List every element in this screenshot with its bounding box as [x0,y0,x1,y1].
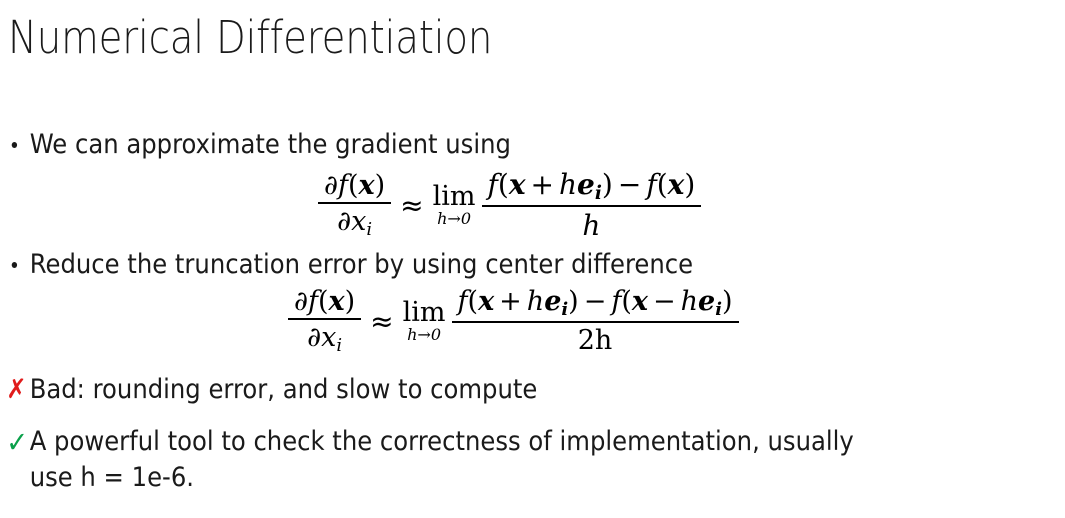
equation-2-rhs: f(x+hei)−f(x−hei) 2h [452,286,739,356]
slide-body: We can approximate the gradient using ∂f… [0,128,1065,496]
equation-1-lhs-denominator: ∂xi [331,204,378,240]
equation-1-rhs: f(x+hei)−f(x) h [482,168,702,242]
equation-2-limit-operator: lim [403,299,446,326]
equation-2-rhs-numerator: f(x+hei)−f(x−hei) [452,286,739,323]
bullet-item-1: We can approximate the gradient using [0,128,959,162]
equation-2-lhs-denominator: ∂xi [301,320,348,356]
note-bad: ✗ Bad: rounding error, and slow to compu… [0,372,1065,408]
bullet-text-2: Reduce the truncation error by using cen… [30,249,693,280]
equation-2-limit: lim h→0 [403,299,452,343]
equation-1-limit: lim h→0 [433,183,482,227]
page-title: Numerical Differentiation [8,10,492,66]
cross-icon: ✗ [6,372,26,408]
equation-1-rhs-denominator: h [576,207,606,242]
bullet-item-2: Reduce the truncation error by using cen… [0,248,959,282]
equation-center-difference: ∂f(x) ∂xi ≈ lim h→0 f(x+hei)−f(x−hei) 2h [0,286,1065,356]
equation-2-relation: ≈ [361,305,402,338]
equation-2-lhs: ∂f(x) ∂xi [288,286,361,356]
equation-1-limit-subscript: h→0 [437,211,471,227]
equation-2-rhs-denominator: 2h [572,323,619,356]
bullet-dot-icon [12,142,17,148]
equation-1-lhs: ∂f(x) ∂xi [318,170,391,240]
equation-1-limit-operator: lim [433,183,476,210]
partial-symbol: ∂ [324,170,338,201]
slide-canvas: Numerical Differentiation We can approxi… [0,0,1065,518]
equation-1-lhs-numerator: ∂f(x) [318,170,391,204]
bullet-dot-icon [12,262,17,268]
bullet-text-1: We can approximate the gradient using [30,129,511,160]
equation-2-lhs-numerator: ∂f(x) [288,286,361,320]
note-good: ✓ A powerful tool to check the correctne… [0,424,1065,496]
equation-1-relation: ≈ [391,189,432,222]
equation-1-rhs-numerator: f(x+hei)−f(x) [482,168,702,207]
note-good-text: A powerful tool to check the correctness… [30,424,1065,460]
equation-2-limit-subscript: h→0 [407,327,441,343]
equation-forward-difference: ∂f(x) ∂xi ≈ lim h→0 f(x+hei)−f(x) h [0,168,1065,242]
note-bad-text: Bad: rounding error, and slow to compute [30,372,1065,408]
note-good-text-line2: use h = 1e-6. [30,460,1065,496]
check-icon: ✓ [6,424,28,460]
